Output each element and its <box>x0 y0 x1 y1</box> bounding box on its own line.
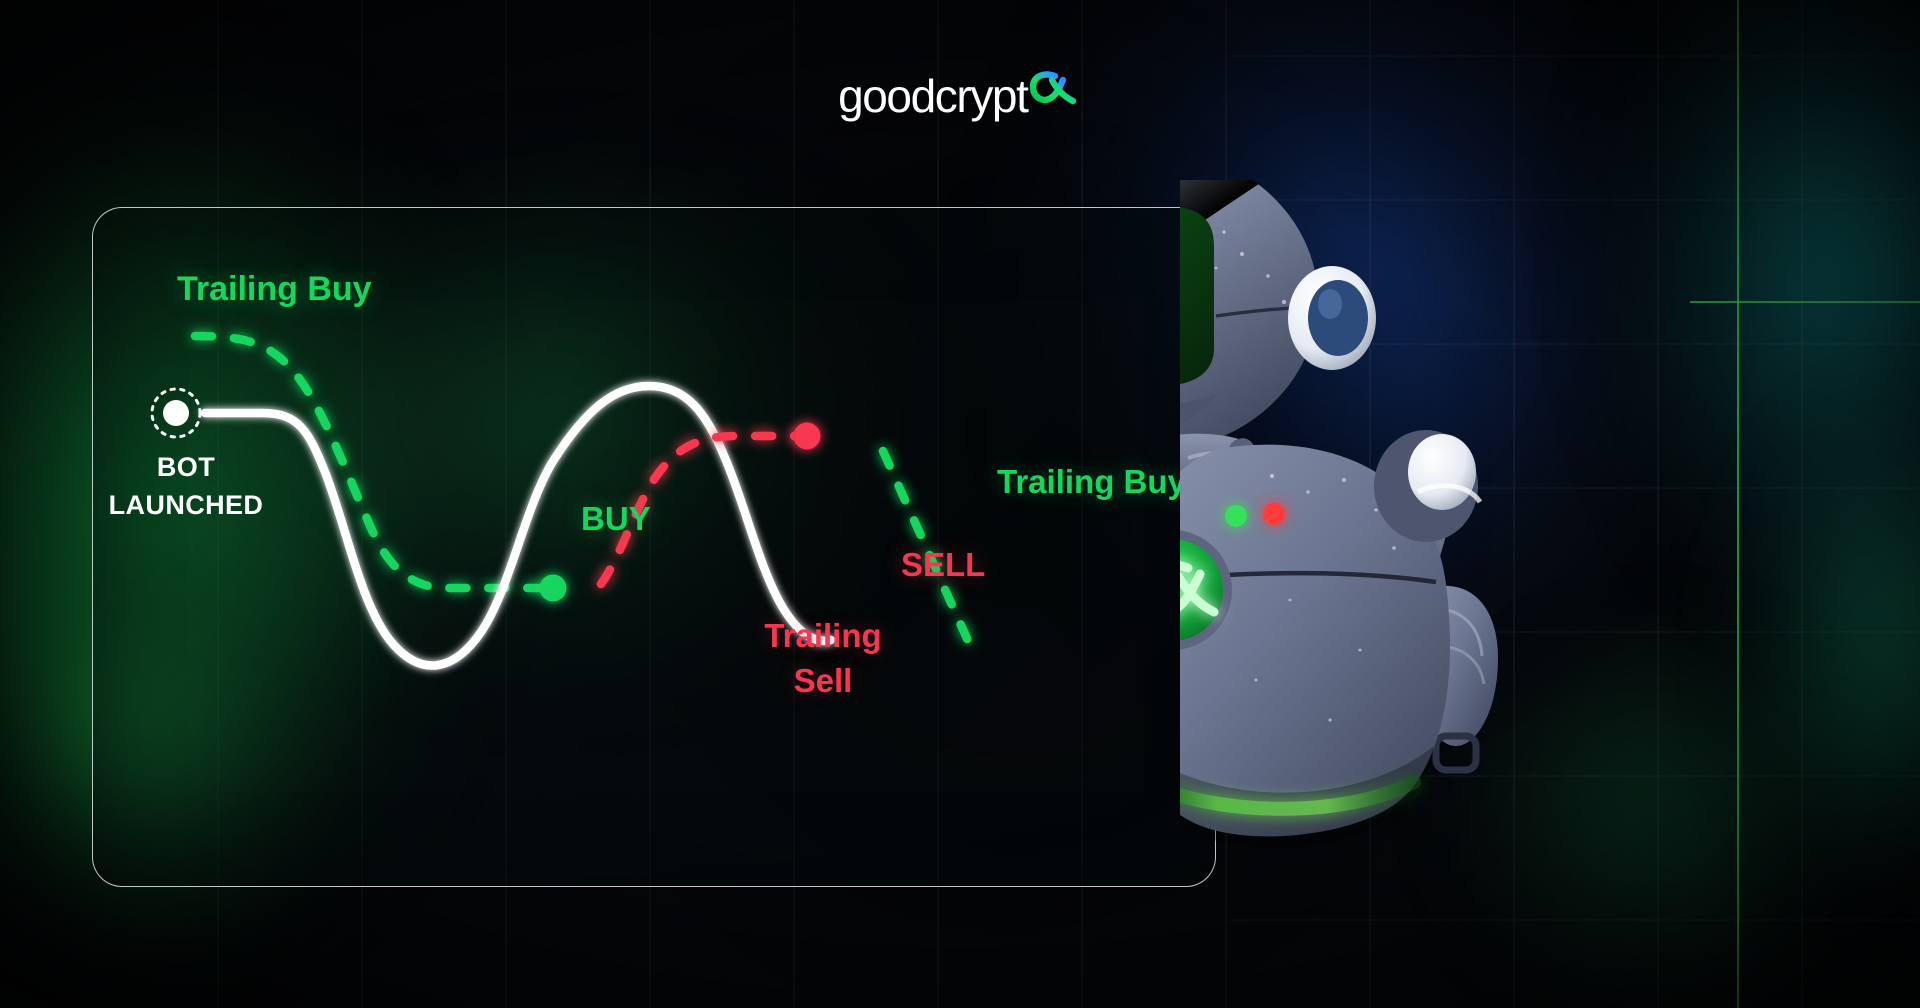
brand-logo-wordmark: goodcrypt <box>838 70 1027 122</box>
bot-launched-line-1: BOT <box>92 448 331 486</box>
robot-ear <box>1288 266 1376 370</box>
chart-card-panel: Trailing Buy BOT LAUNCHED BUY SELL Trail… <box>92 207 1216 887</box>
marker-sell <box>794 423 821 450</box>
robot-right-shoulder <box>1374 430 1480 542</box>
trading-chart <box>93 208 1215 886</box>
robot-visor <box>1180 205 1214 387</box>
trailing-sell-line-2: Sell <box>717 658 929 703</box>
goodcrypto-x-mark-icon <box>1026 63 1082 135</box>
annotation-buy: BUY <box>581 500 651 538</box>
goodcrypto-mascot-robot <box>1180 180 1920 880</box>
robot-led-green <box>1225 505 1247 527</box>
annotation-trailing-buy-2: Trailing Buy <box>997 463 1186 501</box>
robot-led-red <box>1263 503 1285 525</box>
annotation-bot-launched: BOT LAUNCHED <box>92 448 331 524</box>
trailing-sell-line-1: Trailing <box>717 613 929 658</box>
annotation-trailing-buy-1: Trailing Buy <box>177 270 372 309</box>
marker-buy <box>540 575 567 602</box>
marker-bot-launched <box>152 389 200 437</box>
poster-canvas: goodcrypt <box>0 0 1920 1008</box>
annotation-trailing-sell: Trailing Sell <box>717 613 929 703</box>
annotation-sell: SELL <box>901 546 985 584</box>
robot-head <box>1180 180 1376 452</box>
bot-launched-line-2: LAUNCHED <box>92 486 331 524</box>
brand-logo: goodcrypt <box>0 60 1920 120</box>
